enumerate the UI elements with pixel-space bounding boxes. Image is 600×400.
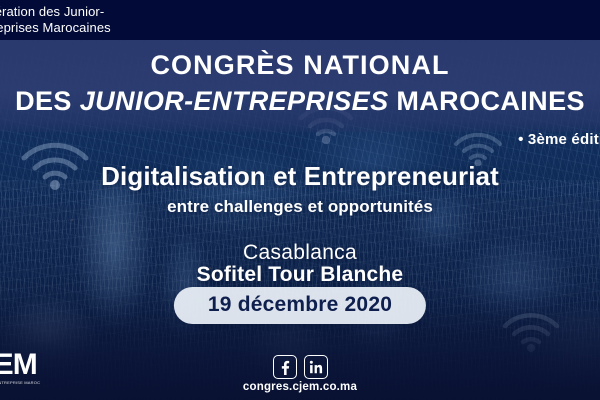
event-title-prefix: DES	[15, 86, 80, 116]
cjem-logo: JEM JUNIOR ENTREPRISE MAROC	[0, 350, 30, 386]
event-title-suffix: MAROCAINES	[388, 86, 584, 116]
organization-name-line2: Entreprises Marocaines	[0, 20, 111, 36]
edition-badge: • 3ème édition	[518, 131, 600, 148]
event-theme: Digitalisation et Entrepreneuriat	[0, 161, 600, 192]
cjem-logo-subtitle: JUNIOR ENTREPRISE MAROC	[0, 380, 30, 386]
event-title-line2: DES JUNIOR-ENTREPRISES MAROCAINES	[0, 86, 600, 117]
event-theme-subtitle: entre challenges et opportunités	[0, 197, 600, 217]
venue-city: Casablanca	[0, 241, 600, 265]
social-links	[0, 355, 600, 379]
event-poster: Fédération des Junior- Entreprises Maroc…	[0, 0, 600, 400]
venue-place: Sofitel Tour Blanche	[0, 263, 600, 287]
organization-name: Fédération des Junior- Entreprises Maroc…	[0, 4, 111, 36]
linkedin-icon[interactable]	[304, 355, 328, 379]
organization-name-line1: Fédération des Junior-	[0, 4, 111, 20]
event-date-badge: 19 décembre 2020	[174, 287, 426, 324]
website-url[interactable]: congres.cjem.co.ma	[0, 381, 600, 393]
cjem-logo-mark: JEM	[0, 350, 30, 380]
event-title-line1: CONGRÈS NATIONAL	[0, 50, 600, 81]
facebook-icon[interactable]	[273, 355, 297, 379]
event-title-emphasis: JUNIOR-ENTREPRISES	[80, 86, 389, 116]
